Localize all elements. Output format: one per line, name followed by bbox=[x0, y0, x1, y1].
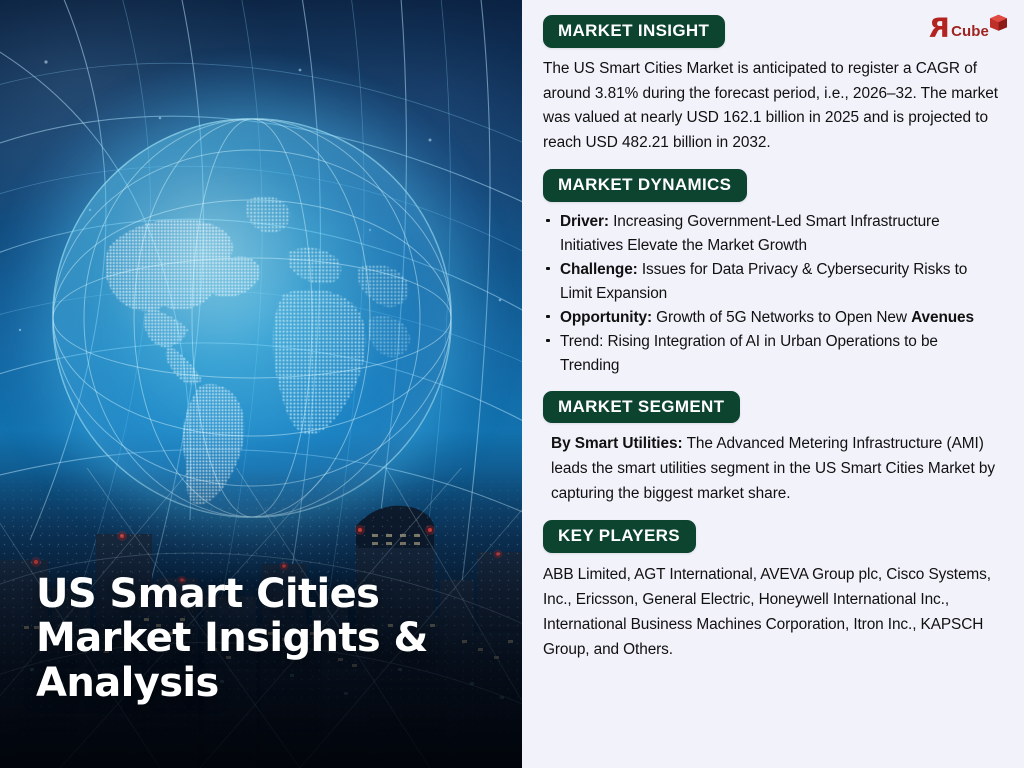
globe-continents bbox=[52, 118, 452, 518]
dynamics-tail: Avenues bbox=[911, 309, 974, 326]
list-item: Opportunity: Growth of 5G Networks to Op… bbox=[543, 306, 998, 330]
market-dynamics-list: Driver: Increasing Government-Led Smart … bbox=[543, 210, 998, 378]
section-market-dynamics: MARKET DYNAMICS Driver: Increasing Gover… bbox=[543, 169, 998, 378]
content-panel: R Cube MARKET INSIGHT The US Smart Citie… bbox=[522, 0, 1024, 768]
badge-market-dynamics: MARKET DYNAMICS bbox=[543, 169, 747, 202]
infographic-page: US Smart Cities Market Insights & Analys… bbox=[0, 0, 1024, 768]
badge-market-insight: MARKET INSIGHT bbox=[543, 15, 725, 48]
hero-image-panel: US Smart Cities Market Insights & Analys… bbox=[0, 0, 522, 768]
brand-logo[interactable]: R Cube bbox=[929, 9, 1008, 47]
badge-market-segment: MARKET SEGMENT bbox=[543, 391, 740, 424]
market-segment-body: By Smart Utilities: The Advanced Meterin… bbox=[543, 432, 998, 506]
dynamics-label: Driver: bbox=[560, 213, 609, 230]
market-insight-body: The US Smart Cities Market is anticipate… bbox=[543, 57, 998, 156]
brand-reversed-r-icon: R bbox=[929, 15, 950, 42]
list-item: Challenge: Issues for Data Privacy & Cyb… bbox=[543, 258, 998, 306]
section-market-segment: MARKET SEGMENT By Smart Utilities: The A… bbox=[543, 391, 998, 507]
section-key-players: KEY PLAYERS ABB Limited, AGT Internation… bbox=[543, 520, 998, 662]
page-title: US Smart Cities Market Insights & Analys… bbox=[36, 572, 506, 706]
segment-lead: By Smart Utilities: bbox=[551, 435, 683, 452]
list-item: Trend: Rising Integration of AI in Urban… bbox=[543, 330, 998, 378]
dynamics-text: Increasing Government-Led Smart Infrastr… bbox=[560, 213, 940, 254]
brand-wordmark: Cube bbox=[951, 24, 989, 39]
digital-globe bbox=[52, 118, 452, 518]
dynamics-text: Growth of 5G Networks to Open New bbox=[652, 309, 911, 326]
dynamics-text: Rising Integration of AI in Urban Operat… bbox=[560, 333, 938, 374]
dynamics-label: Opportunity: bbox=[560, 309, 652, 326]
dynamics-label: Trend: bbox=[560, 333, 603, 350]
badge-key-players: KEY PLAYERS bbox=[543, 520, 696, 553]
cube-icon bbox=[989, 14, 1008, 33]
dynamics-label: Challenge: bbox=[560, 261, 638, 278]
key-players-body: ABB Limited, AGT International, AVEVA Gr… bbox=[543, 562, 998, 662]
list-item: Driver: Increasing Government-Led Smart … bbox=[543, 210, 998, 258]
